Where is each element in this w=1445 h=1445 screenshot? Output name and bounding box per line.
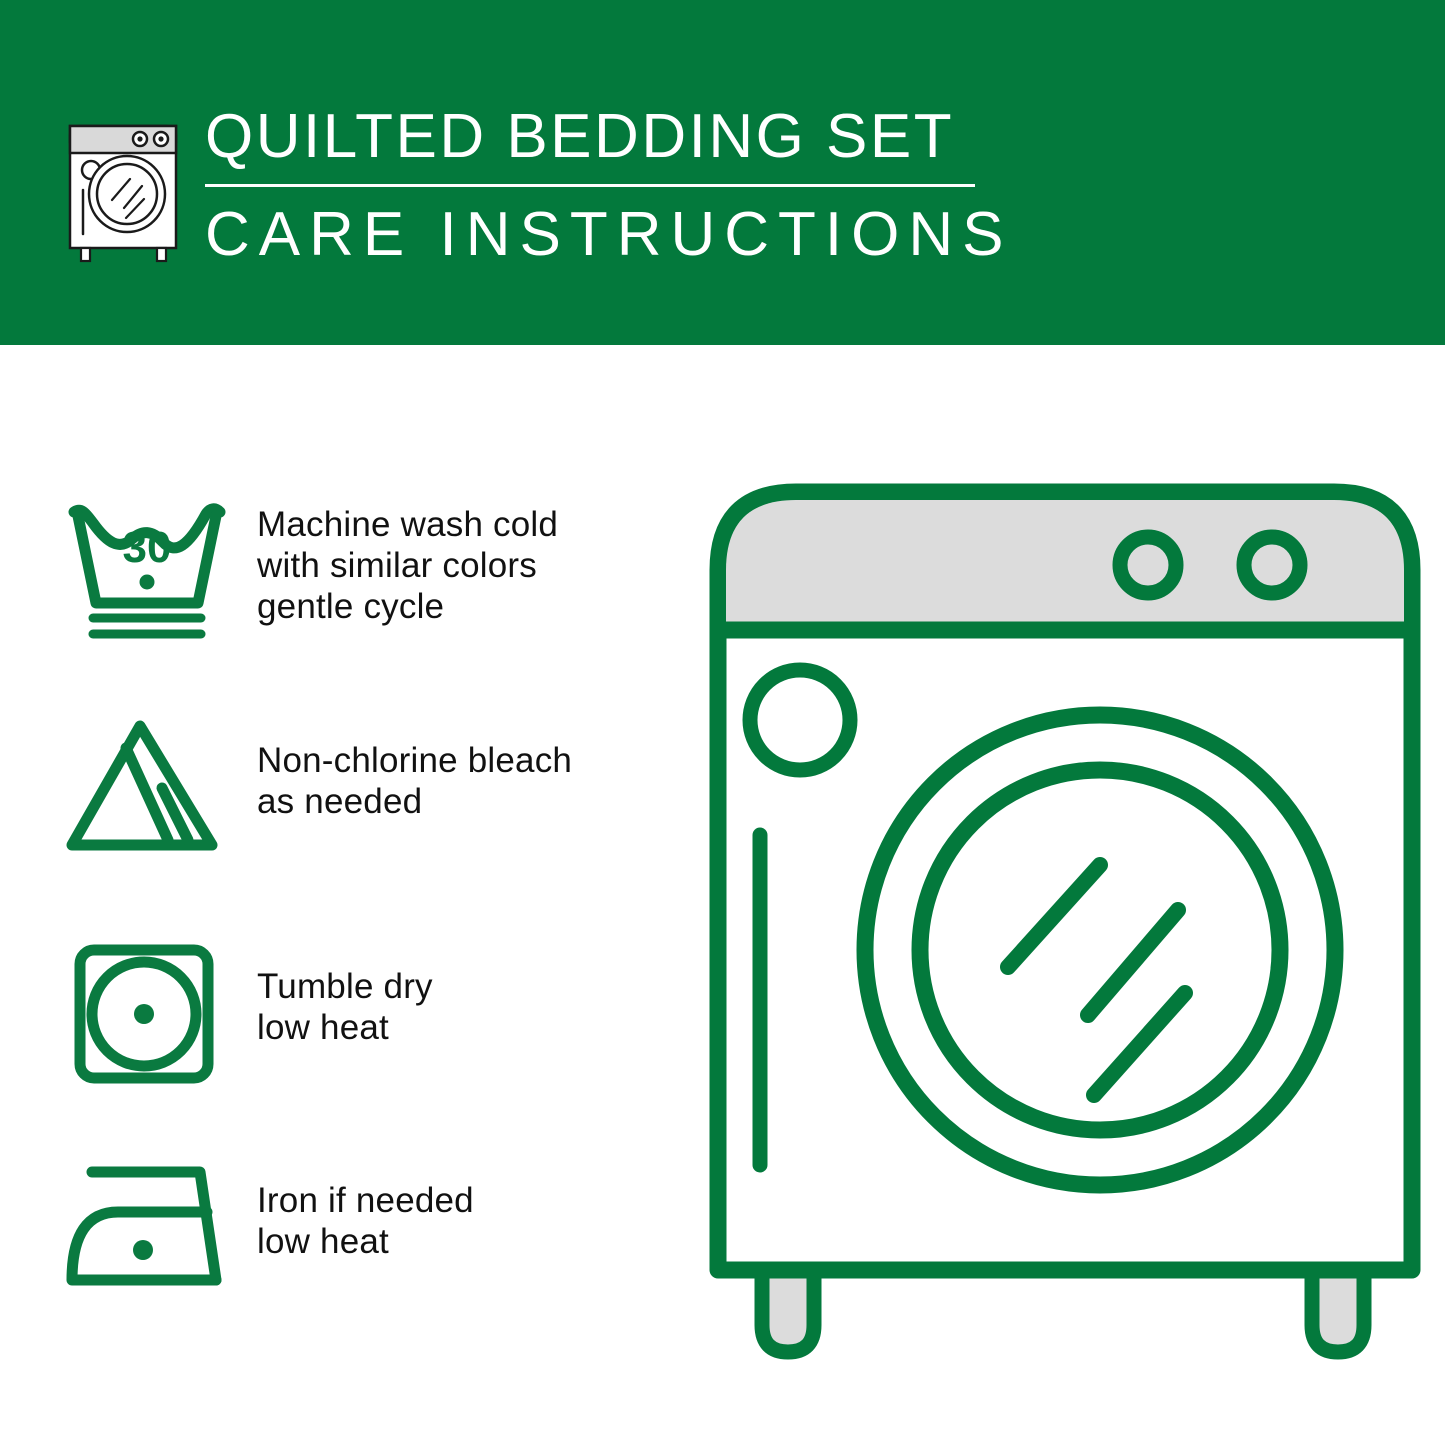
care-label-line: gentle cycle bbox=[257, 586, 558, 627]
care-instruction-label-bleach: Non-chlorine bleach as needed bbox=[257, 712, 572, 822]
page-title: QUILTED BEDDING SET bbox=[205, 100, 995, 174]
machine-door-inner bbox=[920, 770, 1280, 1130]
care-instruction-label-wash: Machine wash cold with similar colors ge… bbox=[257, 490, 558, 627]
header-banner: QUILTED BEDDING SET CARE INSTRUCTIONS bbox=[0, 0, 1445, 345]
care-instruction-row-wash: 30 Machine wash cold with similar colors… bbox=[60, 490, 700, 645]
header-text-block: QUILTED BEDDING SET CARE INSTRUCTIONS bbox=[205, 100, 995, 271]
care-label-line: low heat bbox=[257, 1007, 433, 1048]
wash-temperature-value: 30 bbox=[123, 523, 172, 572]
wash-tub-30-gentle-icon: 30 bbox=[60, 490, 235, 645]
iron-low-heat-icon bbox=[60, 1152, 235, 1307]
care-label-line: low heat bbox=[257, 1221, 474, 1262]
care-instruction-row-bleach: Non-chlorine bleach as needed bbox=[60, 712, 700, 867]
care-label-line: Machine wash cold bbox=[257, 504, 558, 545]
care-label-line: Iron if needed bbox=[257, 1180, 474, 1221]
non-chlorine-bleach-triangle-icon bbox=[60, 712, 235, 867]
page-subtitle: CARE INSTRUCTIONS bbox=[205, 199, 995, 271]
care-instruction-label-iron: Iron if needed low heat bbox=[257, 1152, 474, 1262]
front-load-washing-machine-illustration bbox=[700, 470, 1445, 1370]
care-label-line: as needed bbox=[257, 781, 572, 822]
care-label-line: Non-chlorine bleach bbox=[257, 740, 572, 781]
care-instruction-row-tumble-dry: Tumble dry low heat bbox=[60, 938, 700, 1093]
machine-detergent-port bbox=[750, 670, 850, 770]
care-instructions-page: QUILTED BEDDING SET CARE INSTRUCTIONS bbox=[0, 0, 1445, 1445]
care-instruction-label-tumble-dry: Tumble dry low heat bbox=[257, 938, 433, 1048]
title-divider bbox=[205, 184, 975, 187]
care-label-line: Tumble dry bbox=[257, 966, 433, 1007]
care-label-line: with similar colors bbox=[257, 545, 558, 586]
tumble-dry-low-icon bbox=[60, 938, 235, 1093]
care-instruction-row-iron: Iron if needed low heat bbox=[60, 1152, 700, 1307]
washing-machine-icon bbox=[62, 104, 192, 264]
